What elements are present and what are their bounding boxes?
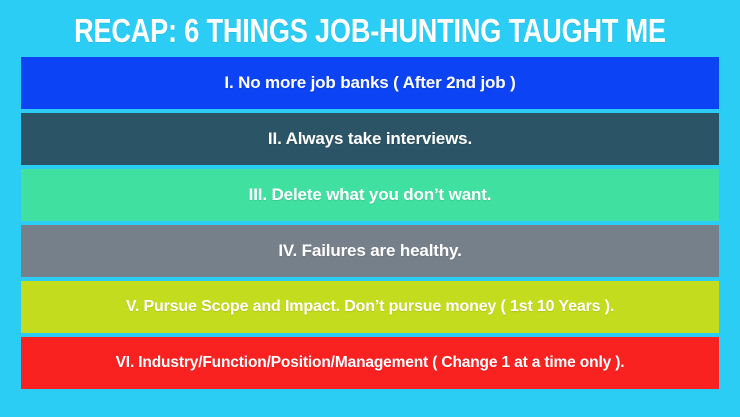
page-title: RECAP: 6 THINGS JOB-HUNTING TAUGHT ME <box>67 14 674 47</box>
list-item-3[interactable]: III. Delete what you don’t want. <box>21 169 719 221</box>
list-item-label: IV. Failures are healthy. <box>278 241 461 261</box>
list-item-2[interactable]: II. Always take interviews. <box>21 113 719 165</box>
list-item-label: VI. Industry/Function/Position/Managemen… <box>116 353 625 373</box>
list-item-label: II. Always take interviews. <box>268 129 472 149</box>
slide-canvas: RECAP: 6 THINGS JOB-HUNTING TAUGHT ME I.… <box>0 0 740 417</box>
list-item-4[interactable]: IV. Failures are healthy. <box>21 225 719 277</box>
list-item-label: III. Delete what you don’t want. <box>249 185 492 205</box>
list-item-5[interactable]: V. Pursue Scope and Impact. Don’t pursue… <box>21 281 719 333</box>
list-item-label: I. No more job banks ( After 2nd job ) <box>224 73 515 93</box>
lesson-list: I. No more job banks ( After 2nd job ) I… <box>21 57 719 389</box>
list-item-6[interactable]: VI. Industry/Function/Position/Managemen… <box>21 337 719 389</box>
list-item-label: V. Pursue Scope and Impact. Don’t pursue… <box>126 297 614 317</box>
list-item-1[interactable]: I. No more job banks ( After 2nd job ) <box>21 57 719 109</box>
